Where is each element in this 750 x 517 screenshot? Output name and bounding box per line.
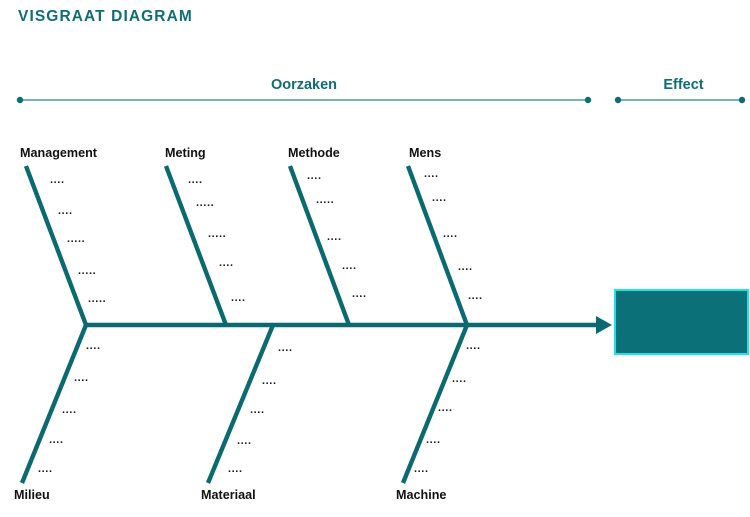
bone-item-management-4[interactable]: ..... — [78, 265, 96, 277]
category-label-meting[interactable]: Meting — [165, 146, 206, 160]
bone-item-meting-1[interactable]: .... — [188, 174, 203, 186]
category-label-methode[interactable]: Methode — [288, 146, 340, 160]
bone-item-meting-2[interactable]: ..... — [196, 197, 214, 209]
bone-item-management-5[interactable]: ..... — [88, 293, 106, 305]
category-label-milieu[interactable]: Milieu — [14, 488, 50, 502]
category-label-management[interactable]: Management — [20, 146, 97, 160]
bone-item-management-1[interactable]: .... — [50, 174, 65, 186]
category-label-mens[interactable]: Mens — [409, 146, 441, 160]
bone-item-milieu-5[interactable]: .... — [38, 463, 53, 475]
bone-item-management-3[interactable]: ..... — [67, 233, 85, 245]
visgraat-diagram-canvas: VISGRAAT DIAGRAM Oorzaken Effect — [0, 0, 750, 517]
bone-item-mens-4[interactable]: .... — [458, 261, 473, 273]
bone-item-mens-1[interactable]: .... — [424, 168, 439, 180]
bone-item-materiaal-2[interactable]: .... — [262, 375, 277, 387]
bone-item-machine-2[interactable]: .... — [452, 373, 467, 385]
bone-item-methode-5[interactable]: .... — [352, 288, 367, 300]
bone-item-methode-2[interactable]: ..... — [316, 194, 334, 206]
bone-item-methode-1[interactable]: .... — [307, 170, 322, 182]
causes-rule — [17, 97, 591, 103]
bone-item-materiaal-4[interactable]: .... — [237, 435, 252, 447]
bone-machine — [403, 325, 467, 483]
bone-item-materiaal-5[interactable]: .... — [228, 463, 243, 475]
bone-item-methode-3[interactable]: .... — [327, 231, 342, 243]
bone-item-milieu-1[interactable]: .... — [86, 340, 101, 352]
bone-item-milieu-3[interactable]: .... — [62, 404, 77, 416]
bone-item-machine-3[interactable]: .... — [438, 402, 453, 414]
bone-item-mens-2[interactable]: .... — [432, 192, 447, 204]
bone-management — [26, 166, 86, 325]
bone-item-machine-1[interactable]: .... — [466, 340, 481, 352]
bone-item-meting-5[interactable]: .... — [231, 292, 246, 304]
bone-item-materiaal-3[interactable]: .... — [250, 404, 265, 416]
category-label-materiaal[interactable]: Materiaal — [201, 488, 256, 502]
bone-mens — [408, 166, 467, 325]
bone-item-milieu-2[interactable]: .... — [74, 372, 89, 384]
bone-meting — [166, 166, 226, 325]
bone-item-materiaal-1[interactable]: .... — [278, 342, 293, 354]
bone-item-mens-5[interactable]: .... — [468, 290, 483, 302]
effect-rule — [615, 97, 745, 103]
bone-item-meting-3[interactable]: ..... — [208, 228, 226, 240]
bone-item-milieu-4[interactable]: .... — [49, 434, 64, 446]
bone-item-machine-4[interactable]: .... — [426, 434, 441, 446]
bone-item-methode-4[interactable]: .... — [342, 260, 357, 272]
effect-box[interactable] — [615, 290, 748, 354]
fishbone-graphics — [0, 0, 750, 517]
bone-methode — [290, 166, 349, 325]
bone-item-meting-4[interactable]: .... — [219, 257, 234, 269]
bone-item-machine-5[interactable]: .... — [414, 463, 429, 475]
category-label-machine[interactable]: Machine — [396, 488, 446, 502]
bone-item-mens-3[interactable]: .... — [443, 228, 458, 240]
bone-item-management-2[interactable]: .... — [58, 205, 73, 217]
